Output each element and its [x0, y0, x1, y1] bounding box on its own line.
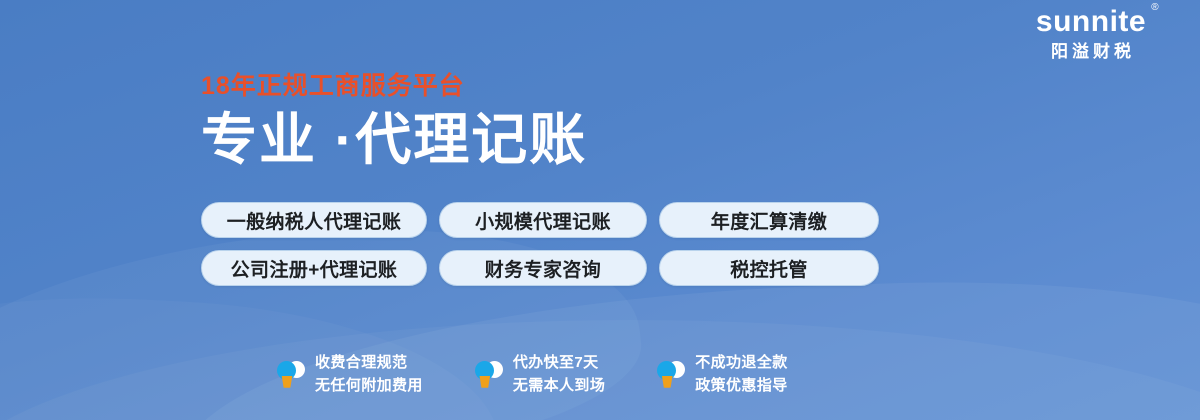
- service-pill-row-2: 公司注册+代理记账 财务专家咨询 税控托管: [201, 250, 879, 286]
- feature-item-speed: 代办快至7天 无需本人到场: [474, 352, 605, 398]
- feature-line-1: 代办快至7天: [513, 352, 605, 375]
- logo-chinese-name: 阳溢财税: [1006, 43, 1176, 62]
- feature-line-2: 无任何附加费用: [315, 375, 423, 398]
- registered-trademark-icon: ®: [1151, 3, 1159, 13]
- service-pill-annual-settlement[interactable]: 年度汇算清缴: [659, 202, 879, 238]
- brand-logo[interactable]: sunnite ® 阳溢财税: [1006, 6, 1176, 61]
- logo-wordmark-text: sunnite: [1036, 5, 1146, 38]
- lightbulb-base: [478, 376, 492, 388]
- eyebrow-text: 18年正规工商服务平台: [201, 72, 587, 101]
- feature-strip: 收费合理规范 无任何附加费用 代办快至7天 无需本人到场 不成功退全款: [276, 352, 788, 398]
- feature-line-2: 无需本人到场: [513, 375, 605, 398]
- feature-text-guarantee: 不成功退全款 政策优惠指导: [695, 352, 787, 398]
- feature-text-speed: 代办快至7天 无需本人到场: [513, 352, 605, 398]
- logo-wordmark: sunnite ®: [1036, 6, 1146, 38]
- background-wave-soft-left: [0, 282, 504, 420]
- service-pill-group: 一般纳税人代理记账 小规模代理记账 年度汇算清缴 公司注册+代理记账 财务专家咨…: [201, 202, 879, 286]
- service-pill-company-registration[interactable]: 公司注册+代理记账: [201, 250, 427, 286]
- service-pill-expert-consulting[interactable]: 财务专家咨询: [439, 250, 647, 286]
- feature-item-pricing: 收费合理规范 无任何附加费用: [276, 352, 423, 398]
- feature-line-1: 不成功退全款: [695, 352, 787, 375]
- feature-line-1: 收费合理规范: [315, 352, 423, 375]
- lightbulb-base: [660, 376, 674, 388]
- lightbulb-icon: [276, 359, 306, 391]
- feature-text-pricing: 收费合理规范 无任何附加费用: [315, 352, 423, 398]
- service-pill-row-1: 一般纳税人代理记账 小规模代理记账 年度汇算清缴: [201, 202, 879, 238]
- service-pill-small-scale[interactable]: 小规模代理记账: [439, 202, 647, 238]
- feature-item-guarantee: 不成功退全款 政策优惠指导: [656, 352, 787, 398]
- lightbulb-icon: [656, 359, 686, 391]
- promo-banner: sunnite ® 阳溢财税 18年正规工商服务平台 专业 ·代理记账 一般纳税…: [0, 0, 1200, 420]
- page-title: 专业 ·代理记账: [201, 109, 587, 172]
- service-pill-tax-control-custody[interactable]: 税控托管: [659, 250, 879, 286]
- service-pill-general-taxpayer[interactable]: 一般纳税人代理记账: [201, 202, 427, 238]
- lightbulb-icon: [474, 359, 504, 391]
- headline-area: 18年正规工商服务平台 专业 ·代理记账: [201, 72, 587, 171]
- lightbulb-base: [280, 376, 294, 388]
- feature-line-2: 政策优惠指导: [695, 375, 787, 398]
